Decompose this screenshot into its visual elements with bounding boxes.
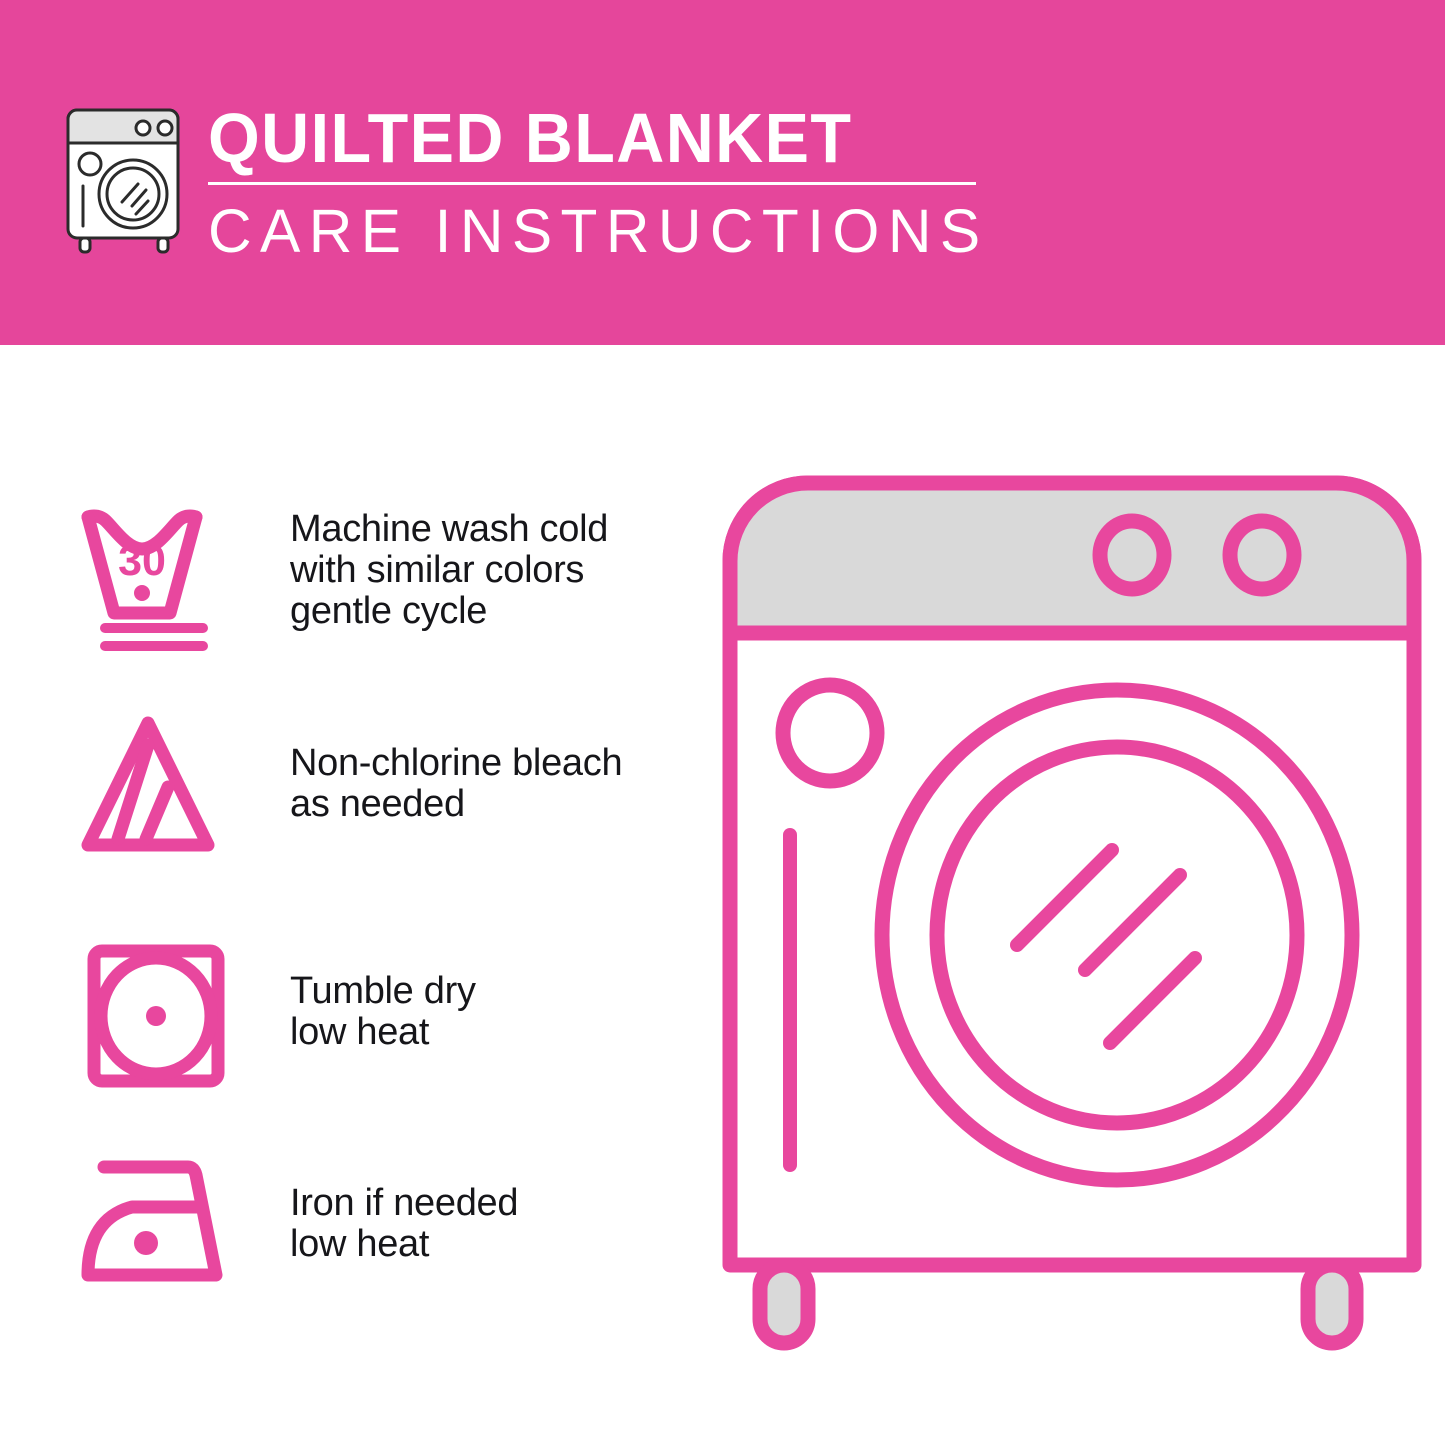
- header-text-block: QUILTED BLANKET CARE INSTRUCTIONS: [208, 100, 998, 264]
- washing-machine-icon: [60, 102, 192, 254]
- page-subtitle: CARE INSTRUCTIONS: [208, 198, 990, 264]
- care-line: as needed: [290, 784, 690, 825]
- washer-indicator-light: [783, 685, 877, 781]
- care-row-label: Non-chlorine bleach as needed: [290, 743, 690, 825]
- washer-knob-right: [1230, 521, 1294, 589]
- care-row-bleach: Non-chlorine bleach as needed: [0, 705, 700, 885]
- care-line: Machine wash cold: [290, 509, 690, 550]
- care-row-tumble-dry: Tumble dry low heat: [0, 933, 700, 1113]
- care-line: Iron if needed: [290, 1183, 690, 1224]
- care-row-iron: Iron if needed low heat: [0, 1145, 700, 1325]
- title-divider: [208, 182, 976, 185]
- care-line: low heat: [290, 1012, 690, 1053]
- washer-leg-right: [1308, 1265, 1356, 1343]
- washer-control-panel: [730, 483, 1414, 633]
- care-line: low heat: [290, 1224, 690, 1265]
- care-row-label: Tumble dry low heat: [290, 971, 690, 1053]
- care-row-label: Iron if needed low heat: [290, 1183, 690, 1265]
- care-line: with similar colors: [290, 550, 690, 591]
- tumble-dry-low-icon: [70, 933, 240, 1103]
- care-line: Tumble dry: [290, 971, 690, 1012]
- header-banner: QUILTED BLANKET CARE INSTRUCTIONS: [0, 0, 1445, 345]
- page-title: QUILTED BLANKET: [208, 100, 959, 176]
- iron-low-heat-icon: [70, 1145, 240, 1315]
- front-load-washing-machine-illustration: [712, 465, 1432, 1365]
- care-row-label: Machine wash cold with similar colors ge…: [290, 509, 690, 632]
- care-line: Non-chlorine bleach: [290, 743, 690, 784]
- non-chlorine-bleach-triangle-icon: [70, 705, 240, 875]
- machine-wash-30-icon: 30: [70, 495, 240, 665]
- washer-leg-left: [760, 1265, 808, 1343]
- care-line: gentle cycle: [290, 591, 690, 632]
- wash-temperature-value: 30: [118, 537, 166, 585]
- washer-knob-left: [1100, 521, 1164, 589]
- care-row-machine-wash: 30 Machine wash cold with similar colors…: [0, 495, 700, 675]
